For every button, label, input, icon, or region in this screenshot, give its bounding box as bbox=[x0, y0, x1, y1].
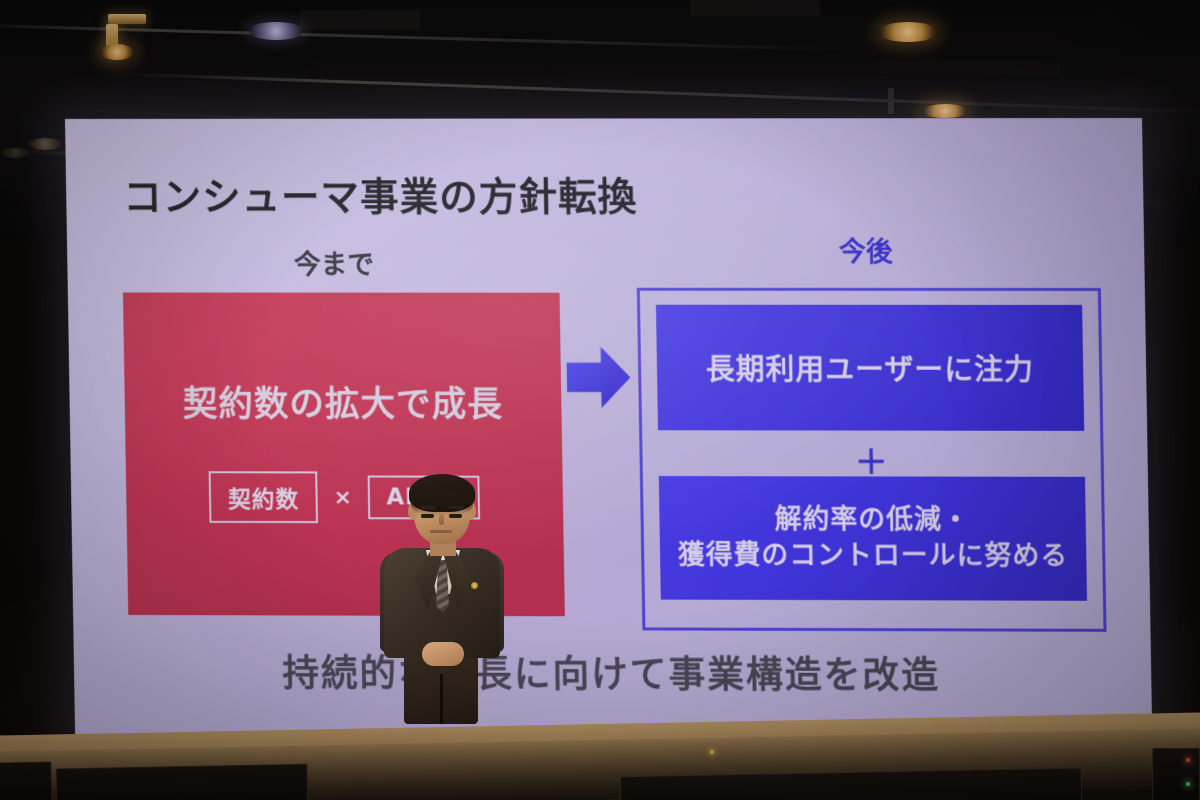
presenter-eye-left bbox=[421, 514, 434, 518]
light-bar bbox=[690, 0, 820, 16]
presenter-clasped-hands bbox=[422, 642, 464, 666]
slide-title: コンシューマ事業の方針転換 bbox=[123, 166, 638, 222]
presenter-figure bbox=[378, 478, 506, 724]
presenter-nose bbox=[439, 514, 444, 525]
status-led-green bbox=[1186, 782, 1190, 786]
current-strategy-headline: 契約数の拡大で成長 bbox=[124, 376, 561, 427]
stage-light-icon bbox=[28, 138, 62, 150]
presentation-slide: コンシューマ事業の方針転換 今まで 今後 契約数の拡大で成長 契約数 × ARP… bbox=[65, 118, 1152, 748]
column-label-now: 今まで bbox=[294, 243, 375, 282]
stage-apron bbox=[0, 700, 1200, 800]
rig-pipe bbox=[888, 88, 894, 114]
formula-term-subscribers: 契約数 bbox=[209, 471, 318, 523]
stage-equipment-rack bbox=[1152, 748, 1200, 800]
stage-monitor bbox=[56, 764, 309, 800]
future-strategy-item-2-line1: 解約率の低減・獲得費のコントロールに努める bbox=[677, 502, 1069, 574]
presenter-lapel-pin-icon bbox=[471, 582, 478, 589]
stage-scene: コンシューマ事業の方針転換 今まで 今後 契約数の拡大で成長 契約数 × ARP… bbox=[0, 0, 1200, 800]
light-bar bbox=[880, 60, 1060, 74]
stage-monitor bbox=[0, 761, 52, 800]
presenter-leg-split bbox=[440, 674, 443, 724]
stage-spotlight-icon bbox=[108, 14, 146, 24]
formula-operator: × bbox=[333, 485, 352, 510]
column-label-future: 今後 bbox=[839, 230, 893, 269]
right-arrow-icon bbox=[566, 345, 631, 409]
future-strategy-group: 長期利用ユーザーに注力 ＋ 解約率の低減・獲得費のコントロールに努める bbox=[637, 288, 1107, 632]
screen-surface: コンシューマ事業の方針転換 今まで 今後 契約数の拡大で成長 契約数 × ARP… bbox=[65, 118, 1152, 748]
presenter-eye-right bbox=[449, 514, 462, 518]
stage-light-icon bbox=[248, 22, 304, 40]
projection-screen: コンシューマ事業の方針転換 今まで 今後 契約数の拡大で成長 契約数 × ARP… bbox=[65, 118, 1152, 748]
stage-light-icon bbox=[0, 148, 30, 158]
presenter-hair bbox=[409, 474, 475, 512]
stage-light-icon bbox=[100, 44, 134, 60]
presenter-mouth bbox=[430, 530, 452, 533]
presenter-brow-left bbox=[420, 506, 436, 509]
presenter-brow-right bbox=[448, 506, 464, 509]
future-strategy-item-1: 長期利用ユーザーに注力 bbox=[656, 305, 1084, 431]
stage-light-icon bbox=[922, 104, 968, 118]
stage-light-icon bbox=[878, 22, 938, 42]
status-led-amber bbox=[710, 750, 714, 754]
light-bar bbox=[300, 10, 420, 30]
future-strategy-item-2: 解約率の低減・獲得費のコントロールに努める bbox=[659, 476, 1087, 601]
slide-footer-message: 持続的な成長に向けて事業構造を改造 bbox=[74, 643, 1152, 700]
status-led-red bbox=[1186, 758, 1190, 762]
